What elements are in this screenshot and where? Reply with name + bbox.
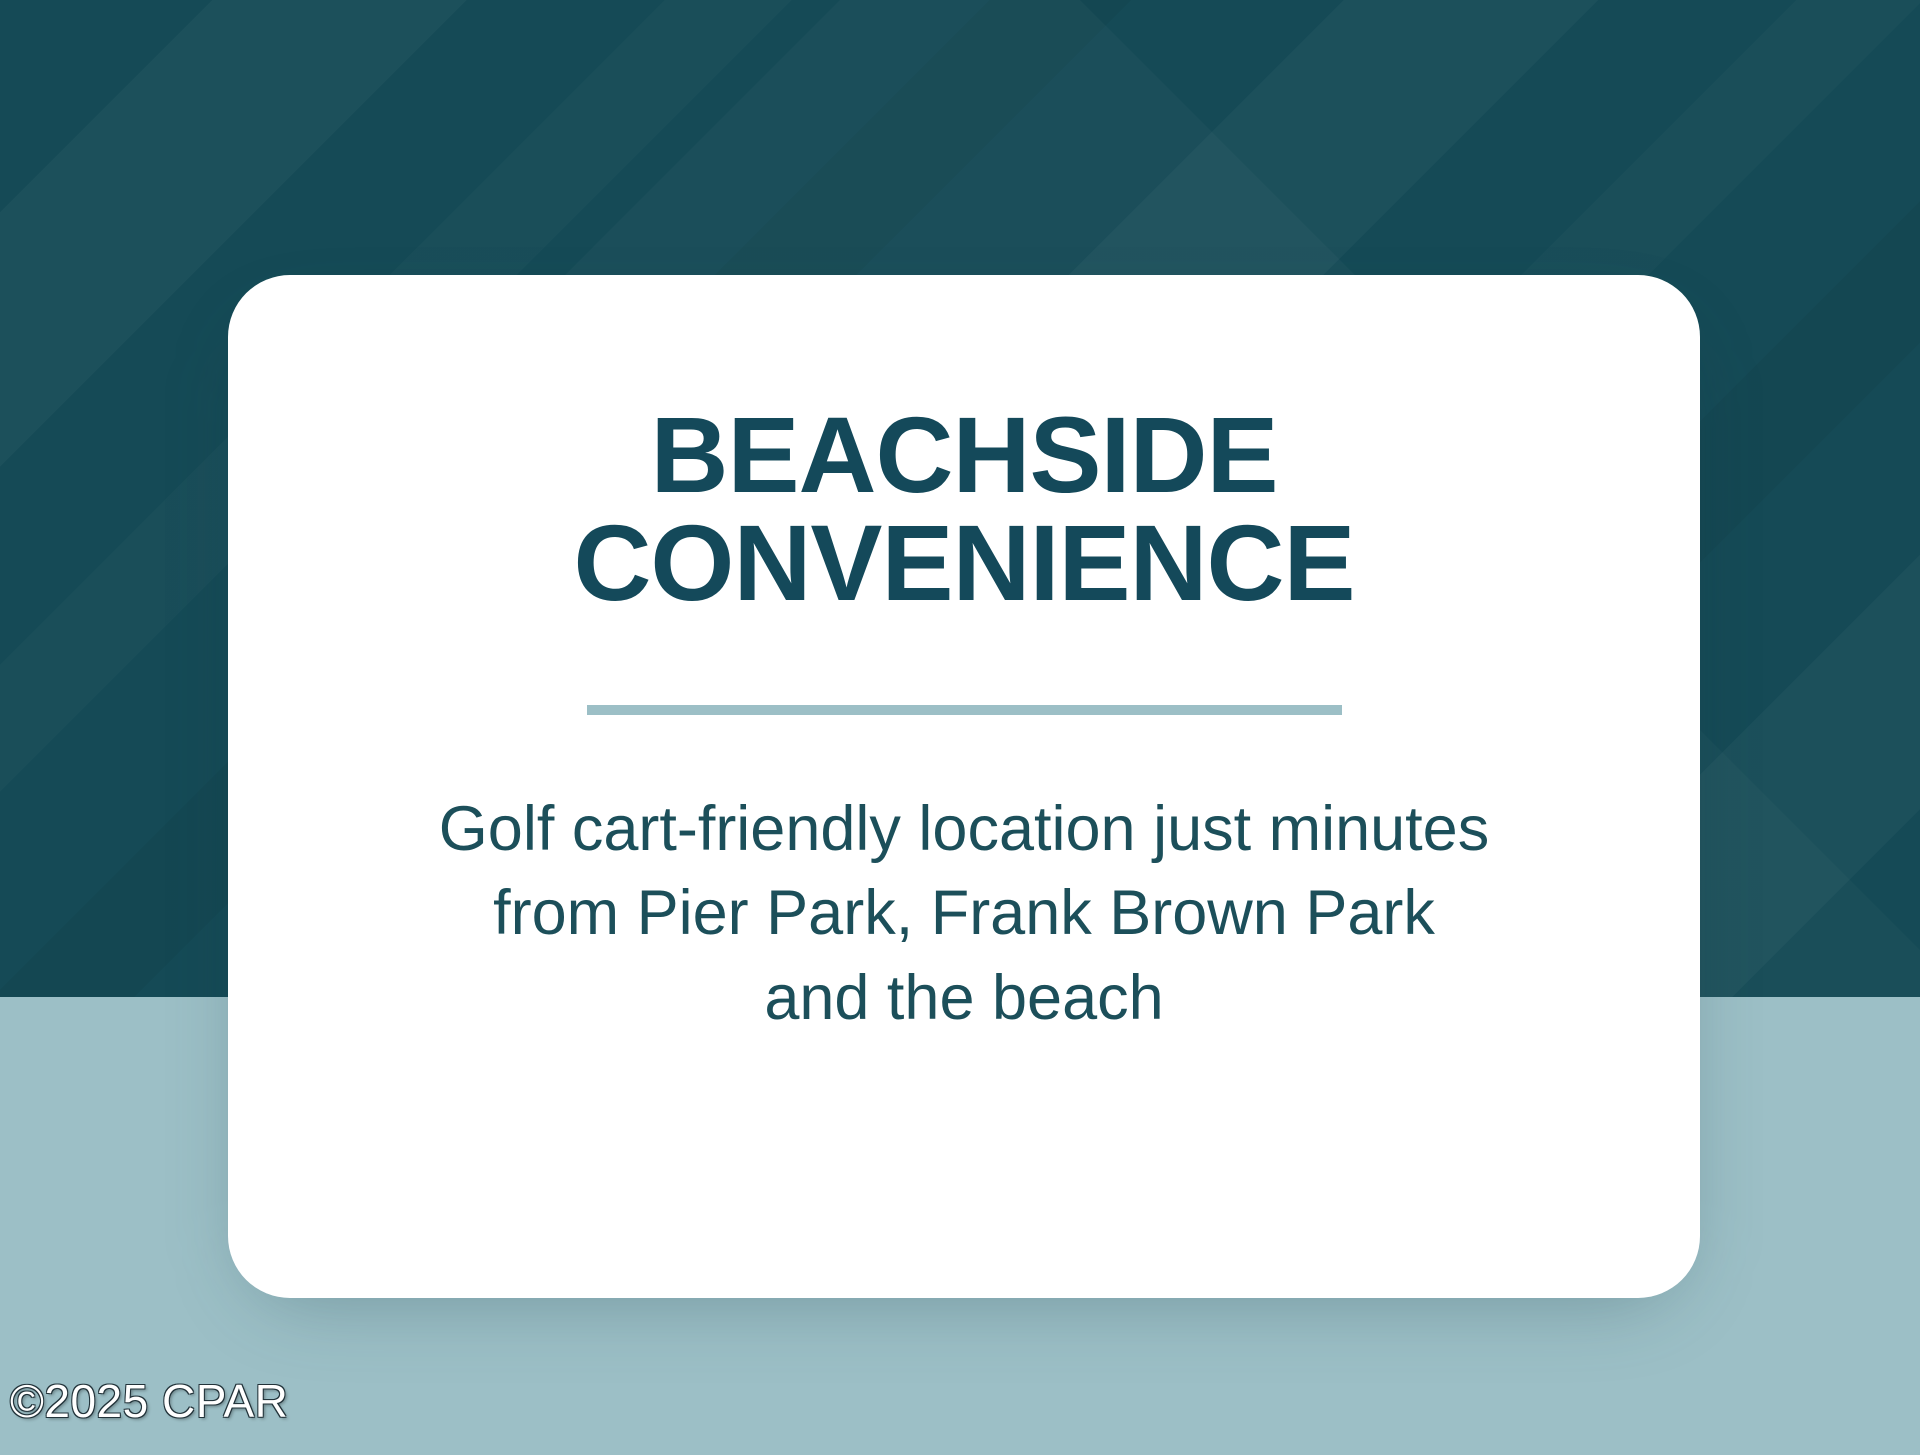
page-title: BEACHSIDE CONVENIENCE	[344, 401, 1584, 617]
title-divider	[587, 705, 1342, 715]
content-card: BEACHSIDE CONVENIENCE Golf cart-friendly…	[228, 275, 1700, 1298]
copyright-notice: ©2025 CPAR	[10, 1378, 288, 1424]
slide-canvas: BEACHSIDE CONVENIENCE Golf cart-friendly…	[0, 0, 1920, 1455]
card-subtitle: Golf cart-friendly location just minutes…	[294, 787, 1634, 1040]
